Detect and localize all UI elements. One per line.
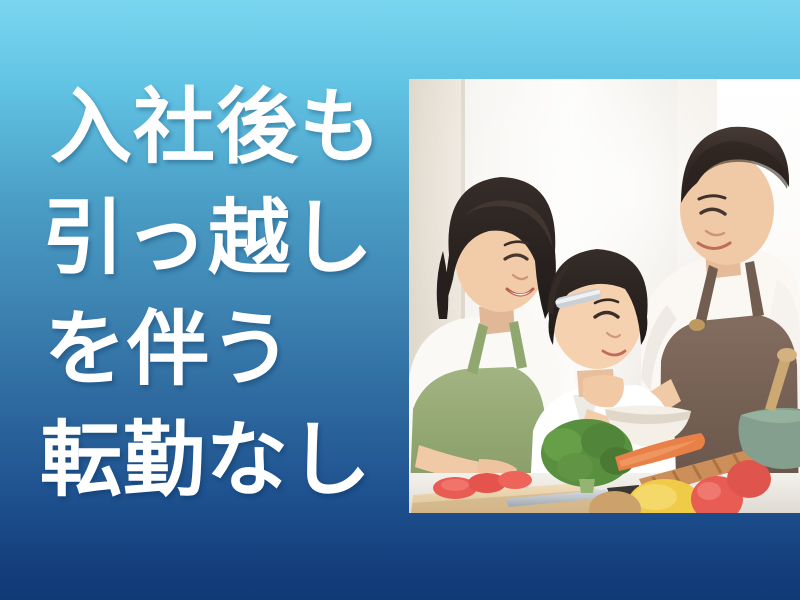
photo-light-overlay xyxy=(409,79,800,513)
family-cooking-photo xyxy=(409,79,800,513)
recruitment-banner: 入社後も 引っ越し を伴う 転勤なし xyxy=(0,0,800,600)
headline-line-3: を伴う xyxy=(40,294,410,405)
headline-block: 入社後も 引っ越し を伴う 転勤なし xyxy=(40,72,410,516)
photo-illustration xyxy=(409,79,800,513)
headline-line-4: 転勤なし xyxy=(40,405,410,516)
headline-line-2: 引っ越し xyxy=(40,183,410,294)
headline-line-1: 入社後も xyxy=(40,72,410,183)
